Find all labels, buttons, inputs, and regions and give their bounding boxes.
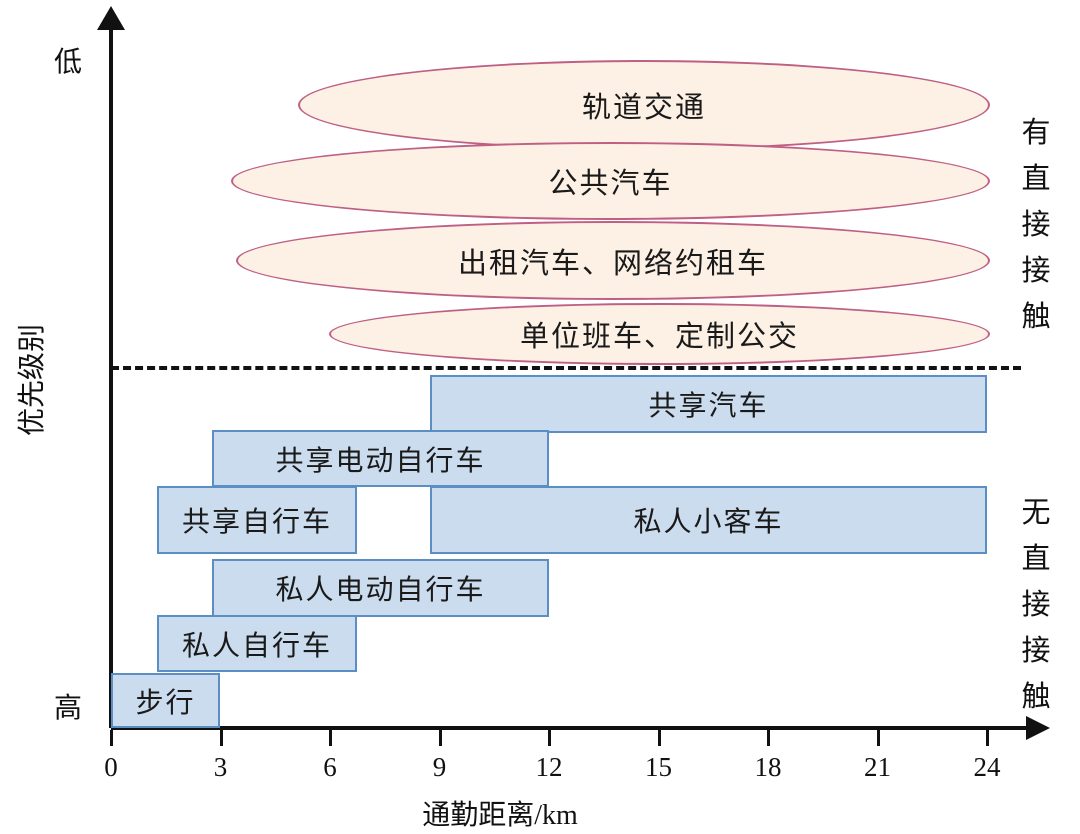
- group-label-char: 接: [1013, 582, 1059, 628]
- contact-divider-line: [111, 366, 1021, 370]
- group-label-char: 接: [1013, 202, 1059, 248]
- x-axis-tick-label: 3: [191, 752, 251, 783]
- x-axis-tick: [439, 730, 442, 746]
- group-label-char: 有: [1013, 110, 1059, 156]
- group-label-char: 接: [1013, 628, 1059, 674]
- bar-shared-bike[interactable]: 共享自行车: [157, 486, 357, 554]
- x-axis-tick: [329, 730, 332, 746]
- x-axis-tick: [110, 730, 113, 746]
- y-axis-low-label: 低: [54, 40, 82, 80]
- x-axis-tick: [877, 730, 880, 746]
- bar-shared-car[interactable]: 共享汽车: [430, 375, 987, 433]
- x-axis-tick-label: 0: [81, 752, 141, 783]
- group-label-no-direct-contact: 无直接接触: [1013, 490, 1059, 720]
- bar-private-ebike[interactable]: 私人电动自行车: [212, 559, 549, 617]
- ellipse-shuttle-custom-bus[interactable]: 单位班车、定制公交: [329, 303, 990, 365]
- chart-canvas: 低 高 优先级别 通勤距离/km 03691215182124 轨道交通 公共汽…: [0, 0, 1080, 834]
- group-label-char: 直: [1013, 156, 1059, 202]
- x-axis-tick-label: 15: [629, 752, 689, 783]
- x-axis-tick: [767, 730, 770, 746]
- x-axis-tick-label: 21: [848, 752, 908, 783]
- x-axis-tick: [986, 730, 989, 746]
- group-label-char: 无: [1013, 490, 1059, 536]
- y-axis-title: 优先级别: [10, 290, 50, 470]
- group-label-char: 触: [1013, 294, 1059, 340]
- x-axis-tick: [220, 730, 223, 746]
- x-axis-tick: [658, 730, 661, 746]
- group-label-char: 直: [1013, 536, 1059, 582]
- x-axis-tick-label: 24: [957, 752, 1017, 783]
- ellipse-taxi-ride-hailing[interactable]: 出租汽车、网络约租车: [236, 221, 990, 300]
- group-label-char: 触: [1013, 674, 1059, 720]
- bar-walking[interactable]: 步行: [111, 673, 220, 728]
- group-label-char: 接: [1013, 248, 1059, 294]
- ellipse-rail-transit[interactable]: 轨道交通: [298, 60, 990, 150]
- bar-shared-ebike[interactable]: 共享电动自行车: [212, 430, 549, 487]
- bar-private-passenger-car[interactable]: 私人小客车: [430, 486, 987, 554]
- x-axis-line: [111, 726, 1031, 730]
- x-axis-tick-label: 18: [738, 752, 798, 783]
- x-axis-tick: [548, 730, 551, 746]
- x-axis-title: 通勤距离/km: [0, 793, 1000, 833]
- y-axis-high-label: 高: [54, 686, 82, 726]
- group-label-direct-contact: 有直接接触: [1013, 110, 1059, 340]
- bar-private-bike[interactable]: 私人自行车: [157, 615, 357, 672]
- ellipse-public-bus[interactable]: 公共汽车: [231, 142, 990, 220]
- x-axis-tick-label: 6: [300, 752, 360, 783]
- y-axis-line: [109, 26, 113, 728]
- x-axis-tick-label: 9: [410, 752, 470, 783]
- y-axis-arrow-icon: [97, 6, 125, 30]
- x-axis-tick-label: 12: [519, 752, 579, 783]
